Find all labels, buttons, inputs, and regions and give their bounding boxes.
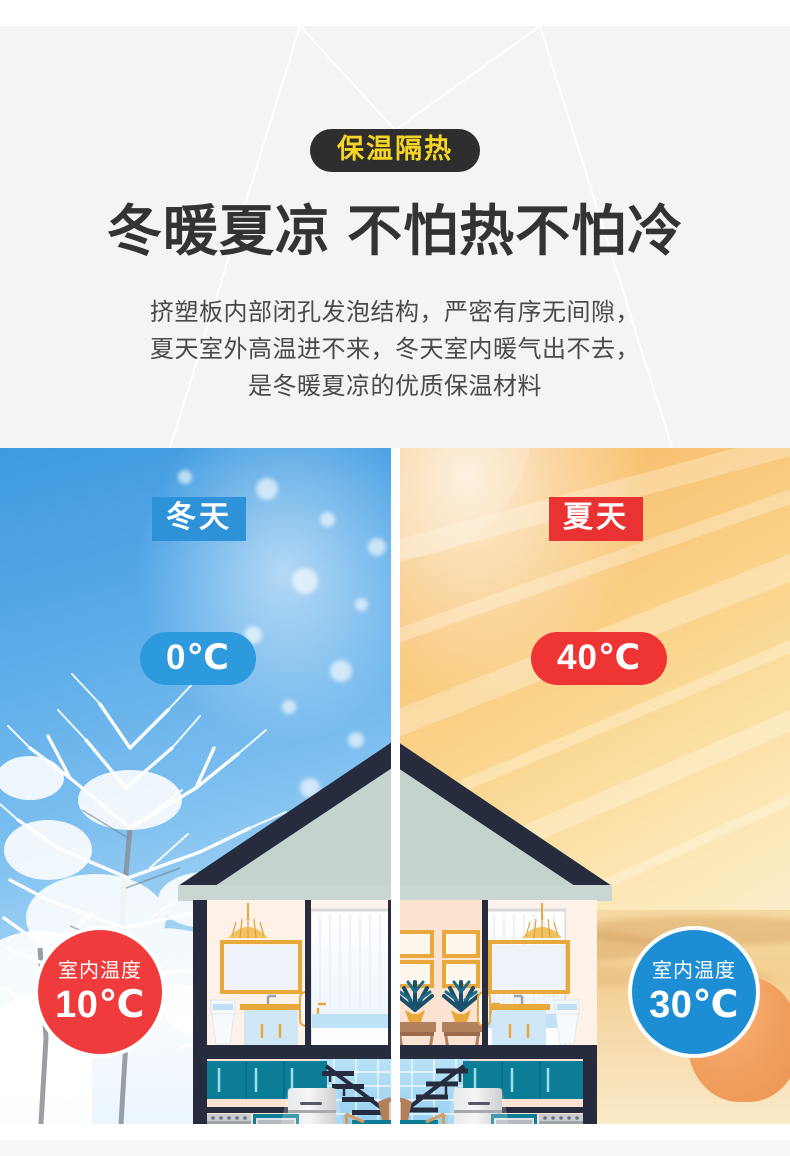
- description-block: 挤塑板内部闭孔发泡结构，严密有序无间隙， 夏天室外高温进不来，冬天室内暖气出不去…: [0, 294, 790, 405]
- section-badge-label: 保温隔热: [337, 136, 453, 163]
- winter-indoor-caption: 室内温度: [58, 961, 142, 981]
- page-footer: [0, 1140, 790, 1156]
- summer-indoor-badge: 室内温度 30℃: [628, 926, 760, 1058]
- winter-outdoor-temp: 0℃: [140, 632, 256, 685]
- scene-divider: [391, 448, 400, 1140]
- scene-bottom-edge: [0, 1124, 790, 1140]
- summer-indoor-temp: 30℃: [649, 986, 739, 1024]
- description-line-2: 夏天室外高温进不来，冬天室内暖气出不去，: [0, 331, 790, 368]
- summer-season-tag: 夏天: [549, 497, 643, 541]
- winter-indoor-badge: 室内温度 10℃: [34, 926, 166, 1058]
- description-line-3: 是冬暖夏凉的优质保温材料: [0, 368, 790, 405]
- description-line-1: 挤塑板内部闭孔发泡结构，严密有序无间隙，: [0, 294, 790, 331]
- promo-page: 保温隔热 冬暖夏凉 不怕热不怕冷 挤塑板内部闭孔发泡结构，严密有序无间隙， 夏天…: [0, 0, 790, 1156]
- summer-indoor-caption: 室内温度: [652, 961, 736, 981]
- header-section: 保温隔热 冬暖夏凉 不怕热不怕冷 挤塑板内部闭孔发泡结构，严密有序无间隙， 夏天…: [0, 0, 790, 448]
- winter-season-tag: 冬天: [152, 497, 246, 541]
- winter-indoor-temp: 10℃: [55, 986, 145, 1024]
- page-title: 冬暖夏凉 不怕热不怕冷: [0, 199, 790, 264]
- section-badge: 保温隔热: [310, 129, 480, 172]
- summer-outdoor-temp: 40℃: [531, 632, 667, 685]
